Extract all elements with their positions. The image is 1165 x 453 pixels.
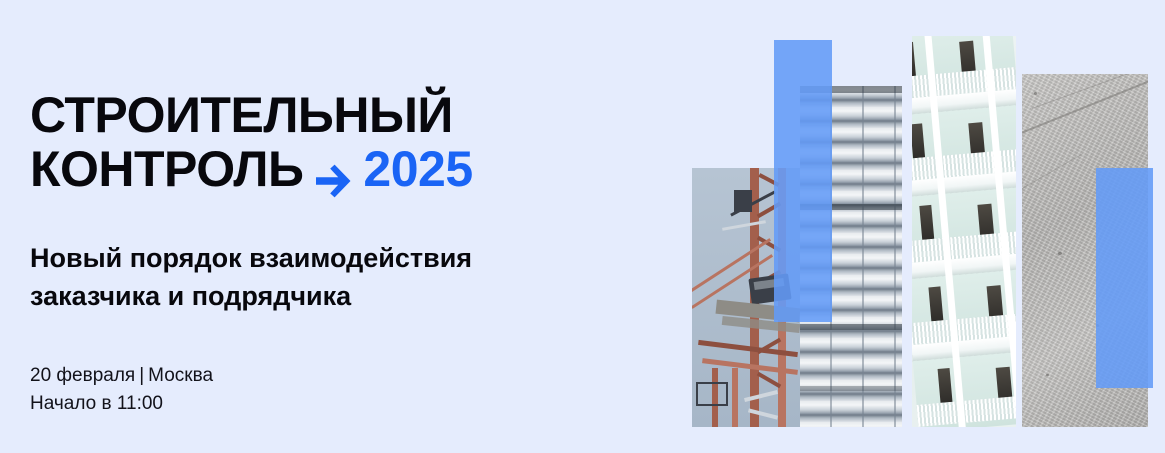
page-title: СТРОИТЕЛЬНЫЙ КОНТРОЛЬ 2025 <box>30 88 473 196</box>
glass-facade-band <box>800 324 902 330</box>
title-line-1: СТРОИТЕЛЬНЫЙ <box>30 88 473 142</box>
accent-rect-right <box>1096 168 1153 388</box>
banner-text-column: СТРОИТЕЛЬНЫЙ КОНТРОЛЬ 2025 Новый порядок… <box>30 0 670 453</box>
concrete-speck <box>1046 374 1049 376</box>
crane-rail <box>734 190 752 212</box>
event-start-time: Начало в 11:00 <box>30 390 213 418</box>
photo-collage <box>670 0 1165 453</box>
event-date: 20 февраля <box>30 365 135 386</box>
event-date-location: 20 февраля|Москва <box>30 362 213 390</box>
accent-rect-top <box>774 40 832 322</box>
arrow-right-icon <box>314 154 352 188</box>
concrete-speck <box>1034 92 1037 95</box>
balcony-grid <box>912 36 1016 427</box>
subtitle-line-2: заказчика и подрядчика <box>30 277 472 315</box>
meta-separator: | <box>135 365 148 386</box>
title-line-2: КОНТРОЛЬ 2025 <box>30 142 473 196</box>
crane-leg <box>732 368 738 427</box>
event-meta: 20 февраля|Москва Начало в 11:00 <box>30 362 213 418</box>
glass-facade-band <box>800 386 902 391</box>
event-year: 2025 <box>363 142 472 196</box>
event-city: Москва <box>148 365 213 386</box>
concrete-speck <box>1058 252 1062 255</box>
title-line-2-text: КОНТРОЛЬ <box>30 142 303 196</box>
balcony-facade-photo <box>912 36 1016 427</box>
crane-basket <box>696 382 728 406</box>
subtitle-line-1: Новый порядок взаимодействия <box>30 239 472 277</box>
page-subtitle: Новый порядок взаимодействия заказчика и… <box>30 239 472 315</box>
event-banner: СТРОИТЕЛЬНЫЙ КОНТРОЛЬ 2025 Новый порядок… <box>0 0 1165 453</box>
